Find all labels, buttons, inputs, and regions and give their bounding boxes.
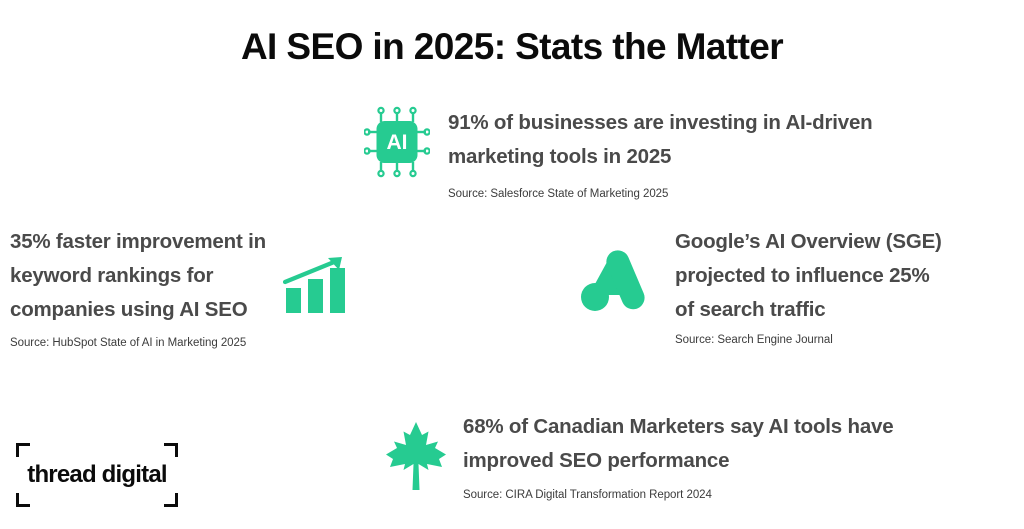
stat-text-ai-investment: 91% of businesses are investing in AI-dr… <box>448 106 873 203</box>
stat-headline: Google’s AI Overview (SGE) projected to … <box>675 225 942 326</box>
logo-text: thread digital <box>16 443 178 507</box>
ai-chip-icon: AI <box>364 106 430 178</box>
google-ads-icon <box>575 249 653 313</box>
stat-source: Source: Search Engine Journal <box>675 332 942 349</box>
stat-source: Source: CIRA Digital Transformation Repo… <box>463 487 893 504</box>
stat-block-google-ai-overview: Google’s AI Overview (SGE) projected to … <box>575 225 942 350</box>
infographic-canvas: AI SEO in 2025: Stats the Matter <box>0 0 1024 529</box>
stat-source: Source: HubSpot State of AI in Marketing… <box>10 335 266 352</box>
stat-block-keyword-rankings: 35% faster improvement in keyword rankin… <box>10 225 351 353</box>
bar-chart-growth-icon <box>283 255 351 315</box>
stat-text-canadian-marketers: 68% of Canadian Marketers say AI tools h… <box>463 410 893 504</box>
maple-leaf-icon <box>385 420 447 492</box>
stat-source: Source: Salesforce State of Marketing 20… <box>448 186 873 203</box>
stat-block-ai-investment: AI 91% of businesses are investing in AI… <box>364 106 873 203</box>
svg-text:AI: AI <box>387 131 408 154</box>
stat-headline: 68% of Canadian Marketers say AI tools h… <box>463 410 893 478</box>
stat-headline: 91% of businesses are investing in AI-dr… <box>448 106 873 174</box>
brand-logo: thread digital <box>16 443 178 507</box>
page-title: AI SEO in 2025: Stats the Matter <box>0 26 1024 68</box>
stat-text-google-ai-overview: Google’s AI Overview (SGE) projected to … <box>675 225 942 350</box>
stat-block-canadian-marketers: 68% of Canadian Marketers say AI tools h… <box>385 410 893 504</box>
stat-headline: 35% faster improvement in keyword rankin… <box>10 225 266 326</box>
stat-text-keyword-rankings: 35% faster improvement in keyword rankin… <box>10 225 266 353</box>
